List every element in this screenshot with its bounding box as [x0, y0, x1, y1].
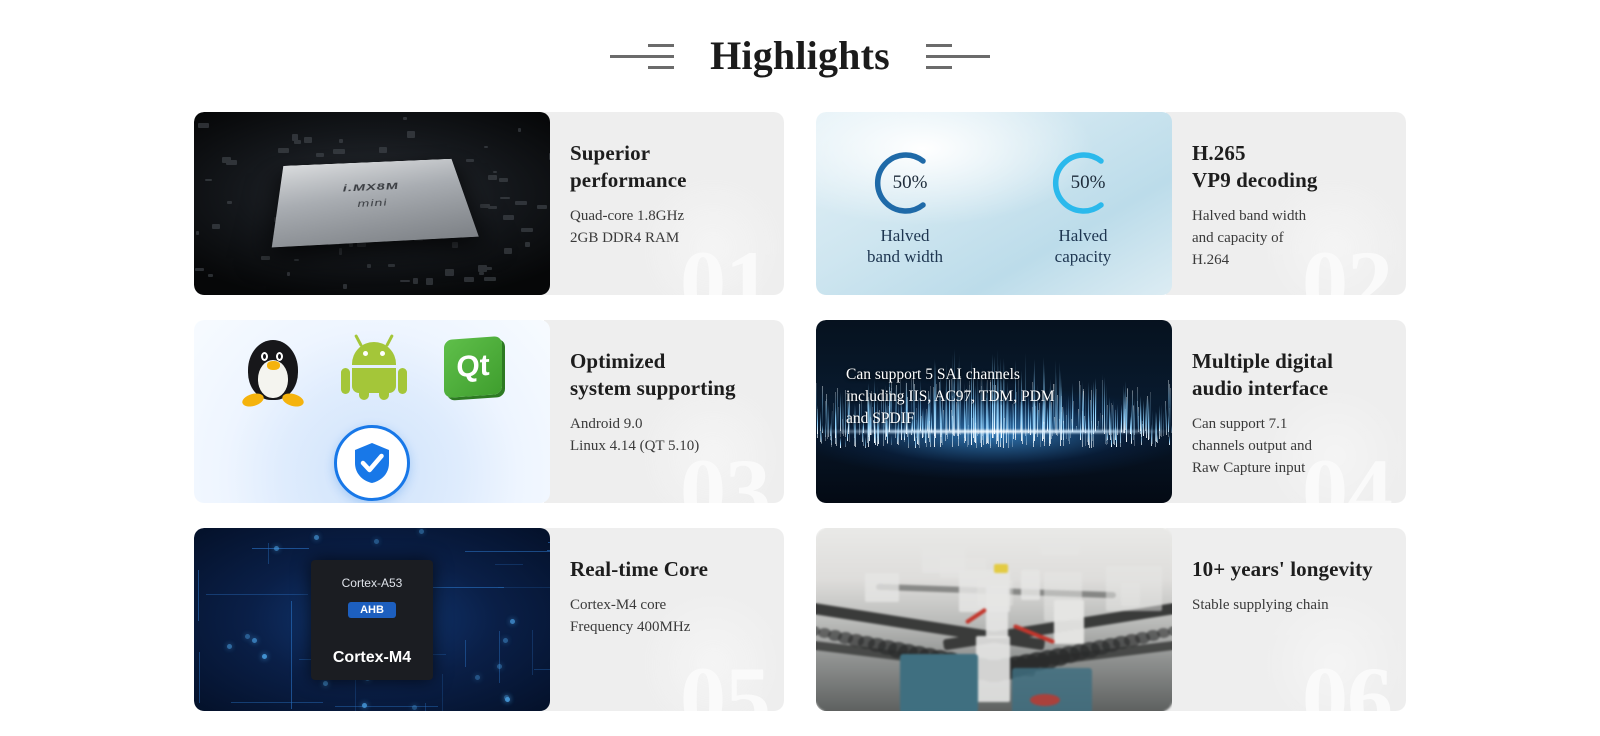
factory-scene — [816, 528, 1172, 711]
core-label-m4: Cortex-M4 — [333, 649, 411, 667]
waveform-glow-line — [816, 430, 1172, 433]
chip-photo-image: i.MX8M mini — [194, 112, 550, 295]
page-title: Highlights — [710, 36, 890, 76]
card-body-05: Real-time Core Cortex-M4 core Frequency … — [544, 528, 784, 711]
os-logo-row: Qt — [194, 334, 550, 406]
card-title-03: Optimized system supporting — [570, 348, 784, 402]
highlight-card-05[interactable]: Cortex-A53 AHB Cortex-M4 Real-time Core … — [194, 528, 784, 711]
os-logos-image: Qt — [194, 320, 550, 503]
card-desc-06: Stable supplying chain — [1192, 594, 1406, 616]
gauge-label-2: Halved capacity — [1055, 226, 1112, 267]
chip-die: i.MX8M mini — [272, 159, 479, 248]
highlights-grid: i.MX8M mini Superior performance Quad-co… — [194, 112, 1406, 711]
card-title-06: 10+ years' longevity — [1192, 556, 1406, 583]
header-right-decoration-icon — [926, 36, 990, 76]
card-title-04: Multiple digital audio interface — [1192, 348, 1406, 402]
card-body-04: Multiple digital audio interface Can sup… — [1166, 320, 1406, 503]
card-title-01: Superior performance — [570, 140, 784, 194]
gauge-group: 50% Halved band width 50% Halved capacit… — [816, 112, 1172, 295]
card-number-05: 05 — [680, 653, 770, 711]
card-desc-05: Cortex-M4 core Frequency 400MHz — [570, 594, 784, 638]
card-body-01: Superior performance Quad-core 1.8GHz 2G… — [544, 112, 784, 295]
core-diagram-image: Cortex-A53 AHB Cortex-M4 — [194, 528, 550, 711]
gauge-item-2: 50% Halved capacity — [994, 112, 1172, 295]
card-title-02: H.265 VP9 decoding — [1192, 140, 1406, 194]
card-desc-03: Android 9.0 Linux 4.14 (QT 5.10) — [570, 413, 784, 457]
page-header: Highlights — [0, 0, 1600, 112]
card-title-05: Real-time Core — [570, 556, 784, 583]
card-body-06: 10+ years' longevity Stable supplying ch… — [1166, 528, 1406, 711]
gauge-value-1: 50% — [868, 146, 942, 220]
shield-check-icon — [334, 425, 410, 501]
linux-penguin-icon — [242, 334, 304, 406]
highlight-card-04[interactable]: Can support 5 SAI channels including IIS… — [816, 320, 1406, 503]
core-label-a53: Cortex-A53 — [342, 576, 403, 590]
highlight-card-02[interactable]: 50% Halved band width 50% Halved capacit… — [816, 112, 1406, 295]
card-body-03: Optimized system supporting Android 9.0 … — [544, 320, 784, 503]
highlight-card-06[interactable]: 10+ years' longevity Stable supplying ch… — [816, 528, 1406, 711]
chip-label-line2: mini — [277, 193, 468, 213]
android-robot-icon — [344, 334, 404, 400]
gauge-ring-icon-2: 50% — [1046, 146, 1120, 220]
card-number-06: 06 — [1302, 653, 1392, 711]
card-body-02: H.265 VP9 decoding Halved band width and… — [1166, 112, 1406, 295]
card-desc-01: Quad-core 1.8GHz 2GB DDR4 RAM — [570, 205, 784, 249]
gauge-graphic-image: 50% Halved band width 50% Halved capacit… — [816, 112, 1172, 295]
core-chip-box: Cortex-A53 AHB Cortex-M4 — [311, 560, 433, 680]
factory-photo-image — [816, 528, 1172, 711]
audio-waveform-image: Can support 5 SAI channels including IIS… — [816, 320, 1172, 503]
highlight-card-01[interactable]: i.MX8M mini Superior performance Quad-co… — [194, 112, 784, 295]
header-left-decoration-icon — [610, 36, 674, 76]
qt-logo-label: Qt — [444, 336, 502, 398]
gauge-item-1: 50% Halved band width — [816, 112, 994, 295]
audio-overlay-caption: Can support 5 SAI channels including IIS… — [846, 364, 1055, 430]
gauge-value-2: 50% — [1046, 146, 1120, 220]
card-desc-02: Halved band width and capacity of H.264 — [1192, 205, 1406, 272]
gauge-ring-icon-1: 50% — [868, 146, 942, 220]
qt-logo-icon: Qt — [444, 338, 502, 396]
gauge-label-1: Halved band width — [867, 226, 943, 267]
card-desc-04: Can support 7.1 channels output and Raw … — [1192, 413, 1406, 480]
core-label-ahb: AHB — [348, 602, 396, 618]
highlight-card-03[interactable]: Qt Optimized system supporting Android 9… — [194, 320, 784, 503]
